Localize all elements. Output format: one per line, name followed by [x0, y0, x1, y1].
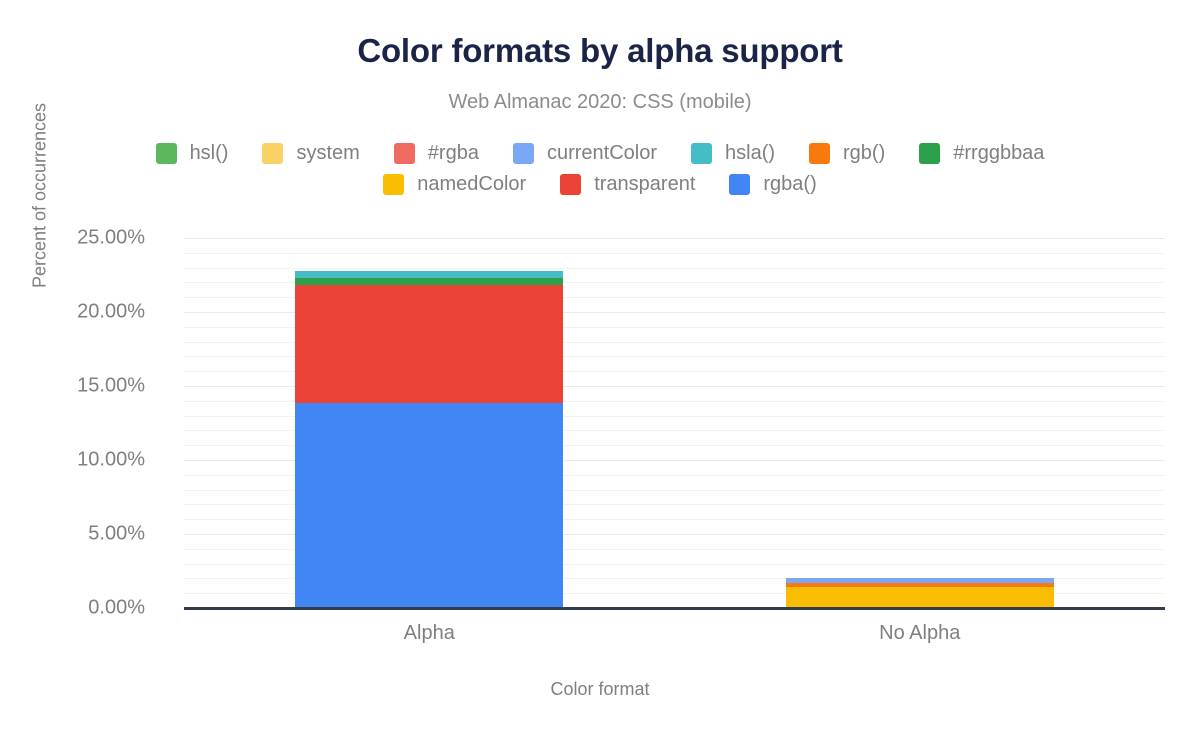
legend-swatch-icon [691, 143, 712, 164]
legend-item-label: hsl() [190, 142, 229, 165]
legend-item-label: transparent [594, 173, 695, 196]
legend-item-label: #rrggbbaa [953, 142, 1044, 165]
legend-item-label: #rgba [428, 142, 479, 165]
legend-swatch-icon [809, 143, 830, 164]
bar-segment-namedcolor[interactable] [786, 587, 1054, 608]
legend-swatch-icon [383, 174, 404, 195]
chart-subtitle: Web Almanac 2020: CSS (mobile) [0, 91, 1200, 114]
legend-item-rgba[interactable]: rgba() [729, 173, 816, 196]
legend-item-label: currentColor [547, 142, 657, 165]
y-axis-tick-label: 15.00% [0, 375, 145, 398]
legend-swatch-icon [262, 143, 283, 164]
y-axis-tick-label: 10.00% [0, 449, 145, 472]
legend-item-hsl[interactable]: hsl() [156, 142, 229, 165]
chart-title: Color formats by alpha support [0, 32, 1200, 70]
gridline-major [184, 238, 1165, 239]
legend-item-label: system [296, 142, 359, 165]
legend-item-rrggbbaa[interactable]: #rrggbbaa [919, 142, 1044, 165]
bar-segment-transparent[interactable] [295, 285, 563, 403]
legend-row-2: namedColortransparentrgba() [0, 169, 1200, 200]
gridline-minor [184, 253, 1165, 254]
legend-item-namedcolor[interactable]: namedColor [383, 173, 526, 196]
legend-item-rgb[interactable]: rgb() [809, 142, 885, 165]
legend-item-hsla[interactable]: hsla() [691, 142, 775, 165]
bar-segment-hsla[interactable] [295, 271, 563, 278]
legend-item-rgba[interactable]: #rgba [394, 142, 479, 165]
x-axis-line [184, 607, 1165, 610]
legend-swatch-icon [513, 143, 534, 164]
bar-no-alpha[interactable] [786, 578, 1054, 608]
legend-item-currentcolor[interactable]: currentColor [513, 142, 657, 165]
bar-segment-rgba[interactable] [295, 403, 563, 608]
bar-alpha[interactable] [295, 271, 563, 608]
x-axis-tick-label: No Alpha [879, 622, 960, 645]
legend-item-label: hsla() [725, 142, 775, 165]
legend-row-1: hsl()system#rgbacurrentColorhsla()rgb()#… [0, 138, 1200, 169]
legend-item-system[interactable]: system [262, 142, 359, 165]
x-axis-tick-label: Alpha [404, 622, 455, 645]
gridline-minor [184, 268, 1165, 269]
legend-item-transparent[interactable]: transparent [560, 173, 695, 196]
legend-item-label: rgba() [763, 173, 816, 196]
legend-item-label: namedColor [417, 173, 526, 196]
y-axis-tick-label: 25.00% [0, 227, 145, 250]
x-axis-title: Color format [0, 679, 1200, 700]
legend-swatch-icon [919, 143, 940, 164]
legend-swatch-icon [156, 143, 177, 164]
legend-item-label: rgb() [843, 142, 885, 165]
legend-swatch-icon [394, 143, 415, 164]
y-axis-tick-label: 5.00% [0, 523, 145, 546]
y-axis-tick-label: 20.00% [0, 301, 145, 324]
bar-segment-rrggbbaa[interactable] [295, 278, 563, 285]
chart-legend: hsl()system#rgbacurrentColorhsla()rgb()#… [0, 138, 1200, 200]
y-axis-tick-label: 0.00% [0, 597, 145, 620]
legend-swatch-icon [560, 174, 581, 195]
legend-swatch-icon [729, 174, 750, 195]
plot-area: 0.00%5.00%10.00%15.00%20.00%25.00% [184, 238, 1165, 608]
